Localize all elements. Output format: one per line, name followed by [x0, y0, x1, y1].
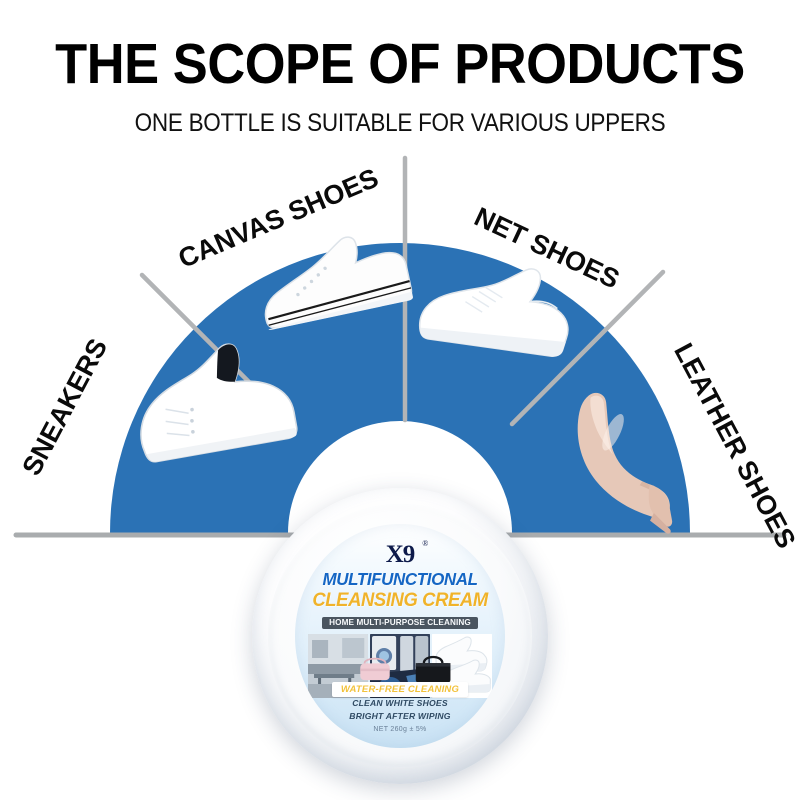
benefit-line-1: CLEAN WHITE SHOES	[295, 698, 505, 708]
registered-mark: ®	[422, 540, 427, 548]
infographic-canvas: THE SCOPE OF PRODUCTS ONE BOTTLE IS SUIT…	[0, 0, 800, 800]
jar-label: X9® MULTIFUNCTIONAL CLEANSING CREAM HOME…	[295, 524, 505, 749]
product-name-line1: MULTIFUNCTIONAL	[298, 569, 502, 590]
brand-logo: X9®	[386, 542, 415, 567]
product-tagline: HOME MULTI-PURPOSE CLEANING	[322, 617, 478, 629]
brand-name: X9	[386, 541, 415, 568]
product-name-line2: CLEANSING CREAM	[298, 590, 502, 612]
net-weight: NET 260g ± 5%	[295, 726, 505, 733]
benefit-line-2: BRIGHT AFTER WIPING	[295, 711, 505, 721]
badge-row: WATER-FREE CLEANING	[295, 679, 505, 697]
product-jar: X9® MULTIFUNCTIONAL CLEANSING CREAM HOME…	[252, 488, 548, 784]
water-free-badge: WATER-FREE CLEANING	[332, 682, 468, 697]
